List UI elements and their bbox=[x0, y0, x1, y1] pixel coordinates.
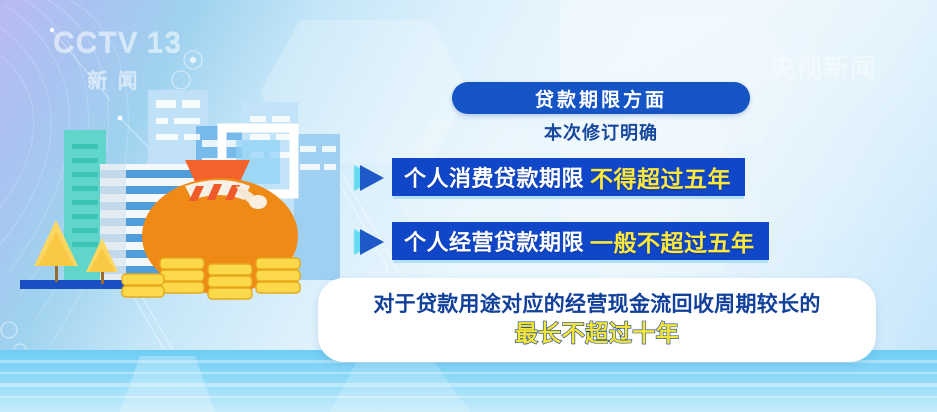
note-card: 对于贷款用途对应的经营现金流回收周期较长的 最长不超过十年 bbox=[318, 278, 876, 362]
headline-pill: 贷款期限方面 bbox=[452, 82, 750, 114]
page-subtitle: 本次修订明确 bbox=[452, 119, 750, 145]
point-1-highlight: 不得超过五年 bbox=[590, 160, 731, 194]
triangle-arrow-icon bbox=[358, 226, 392, 256]
note-card-line1: 对于贷款用途对应的经营现金流回收周期较长的 bbox=[373, 293, 820, 317]
point-2-label: 个人经营贷款期限 bbox=[404, 225, 584, 257]
point-1-label: 个人消费贷款期限 bbox=[404, 161, 584, 193]
list-item: 个人消费贷款期限 不得超过五年 bbox=[358, 158, 745, 196]
list-item: 个人经营贷款期限 一般不超过五年 bbox=[358, 222, 769, 260]
city-money-illustration bbox=[0, 82, 340, 412]
page-title: 贷款期限方面 bbox=[535, 85, 667, 112]
note-card-line2: 最长不超过十年 bbox=[515, 321, 680, 346]
point-bar-2: 个人经营贷款期限 一般不超过五年 bbox=[392, 222, 769, 260]
broadcast-graphic-stage: CCTV 13 新闻 央视新闻 bbox=[0, 0, 937, 412]
triangle-arrow-icon bbox=[358, 162, 392, 192]
point-2-highlight: 一般不超过五年 bbox=[590, 224, 755, 258]
point-bar-1: 个人消费贷款期限 不得超过五年 bbox=[392, 158, 745, 196]
